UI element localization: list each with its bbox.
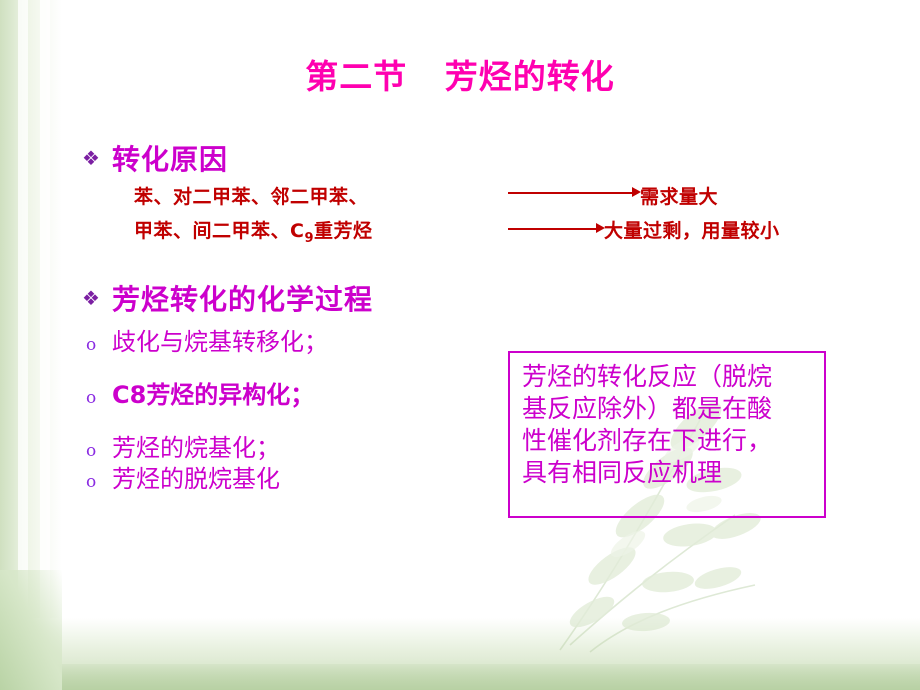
list-item: o 芳烃的脱烷基化 — [86, 459, 280, 494]
subscript-9: 9 — [304, 231, 314, 246]
reason-left-line-2: 甲苯、间二甲苯、C9重芳烃 — [134, 216, 373, 246]
section-heading-1: ❖ 转化原因 — [82, 138, 228, 178]
slide-canvas: 第二节 芳烃的转化 ❖ 转化原因 苯、对二甲苯、邻二甲苯、 甲苯、间二甲苯、C9… — [0, 0, 920, 690]
list-marker-icon: o — [86, 388, 112, 408]
reason-right-line-2: 大量过剩，用量较小 — [604, 216, 780, 243]
list-marker-icon: o — [86, 335, 112, 355]
list-marker-icon: o — [86, 441, 112, 461]
note-line-4: 具有相同反应机理 — [522, 457, 814, 489]
note-line-3: 性催化剂存在下进行， — [522, 425, 814, 457]
list-item-label: C8芳烃的异构化； — [112, 375, 314, 410]
bottom-left-corner-shade — [0, 570, 62, 690]
arrow-line-1 — [508, 192, 636, 194]
list-item-label: 芳烃的烷基化； — [112, 428, 280, 463]
section-heading-2-label: 芳烃转化的化学过程 — [112, 278, 373, 318]
list-item: o 歧化与烷基转移化； — [86, 322, 328, 357]
section-heading-2: ❖ 芳烃转化的化学过程 — [82, 278, 373, 318]
list-item-label: 芳烃的脱烷基化 — [112, 459, 280, 494]
diamond-bullet-icon-2: ❖ — [82, 288, 100, 308]
note-line-1: 芳烃的转化反应（脱烷 — [522, 361, 814, 393]
list-item: o C8芳烃的异构化； — [86, 375, 314, 410]
section-heading-1-label: 转化原因 — [112, 138, 228, 178]
bottom-dark-edge — [0, 664, 920, 690]
diamond-bullet-icon: ❖ — [82, 148, 100, 168]
note-box: 芳烃的转化反应（脱烷 基反应除外）都是在酸 性催化剂存在下进行， 具有相同反应机… — [508, 351, 826, 518]
list-item: o 芳烃的烷基化； — [86, 428, 280, 463]
note-line-2: 基反应除外）都是在酸 — [522, 393, 814, 425]
list-item-label: 歧化与烷基转移化； — [112, 322, 328, 357]
reason-right-line-1: 需求量大 — [640, 182, 718, 209]
list-marker-icon: o — [86, 472, 112, 492]
page-title: 第二节 芳烃的转化 — [0, 50, 920, 98]
reason-left-line-1: 苯、对二甲苯、邻二甲苯、 — [134, 182, 368, 209]
arrow-line-2 — [508, 228, 600, 230]
